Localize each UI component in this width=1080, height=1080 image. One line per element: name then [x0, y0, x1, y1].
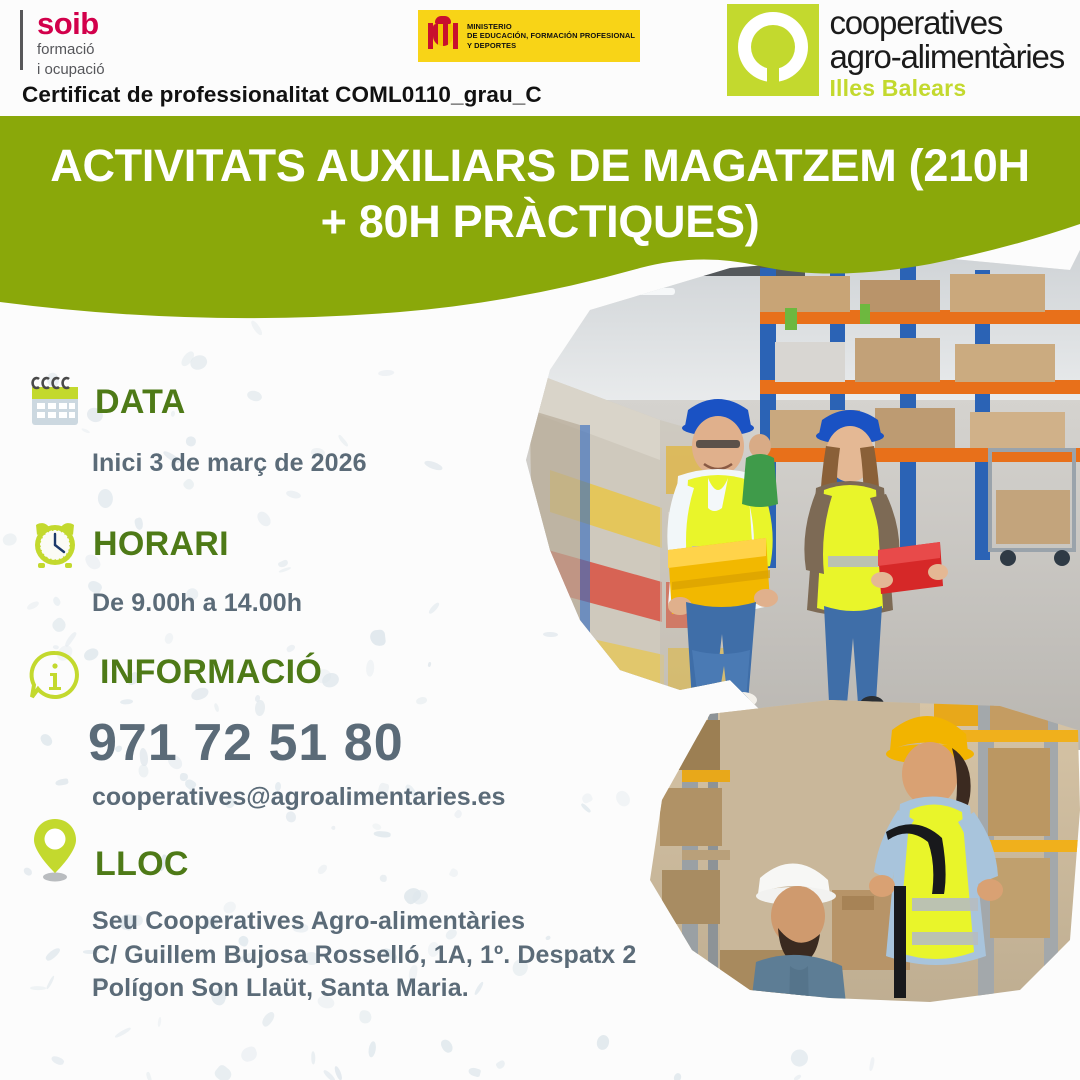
poster: ACTIVITATS AUXILIARS DE MAGATZEM (210H +… [0, 0, 1080, 1080]
calendar-icon [26, 373, 84, 431]
soib-wordmark: soib [37, 8, 105, 39]
lloc-address-line3: Polígon Son Llaüt, Santa Maria. [92, 972, 636, 1006]
horari-label: HORARI [93, 525, 229, 564]
soib-tagline-line2: i ocupació [37, 62, 105, 79]
informacio-label: INFORMACIÓ [100, 653, 322, 692]
title-banner: ACTIVITATS AUXILIARS DE MAGATZEM (210H +… [0, 116, 1080, 336]
spain-coat-of-arms-icon [428, 16, 458, 56]
soib-tagline-line1: formació [37, 42, 105, 59]
data-value: Inici 3 de març de 2026 [92, 447, 367, 481]
poster-title: ACTIVITATS AUXILIARS DE MAGATZEM (210H +… [0, 138, 1080, 250]
ministerio-line1: MINISTERIO [467, 22, 635, 32]
lloc-address: Seu Cooperatives Agro-alimentàries C/ Gu… [92, 905, 636, 1006]
email-address[interactable]: cooperatives@agroalimentaries.es [92, 783, 505, 812]
cooperatives-line2: agro-alimentàries [829, 40, 1064, 74]
soib-divider-bar [20, 10, 23, 70]
data-label: DATA [95, 383, 186, 422]
map-pin-icon [26, 815, 84, 887]
lloc-address-line1: Seu Cooperatives Agro-alimentàries [92, 905, 636, 939]
ministerio-line3: Y DEPORTES [467, 41, 635, 51]
cooperatives-line1: cooperatives [829, 6, 1064, 40]
lloc-address-line2: C/ Guillem Bujosa Rosselló, 1A, 1º. Desp… [92, 939, 636, 973]
info-bubble-icon [26, 647, 84, 705]
certificate-code-text: Certificat de professionalitat COML0110_… [22, 82, 542, 108]
ministerio-line2: DE EDUCACIÓN, FORMACIÓN PROFESIONAL [467, 31, 635, 41]
cooperatives-tree-mark-icon [727, 4, 819, 96]
horari-value: De 9.00h a 14.00h [92, 587, 302, 621]
soib-logo: soib formació i ocupació [20, 8, 105, 79]
phone-number[interactable]: 971 72 51 80 [88, 713, 404, 773]
cooperatives-line3: Illes Balears [829, 75, 1064, 103]
lloc-label: LLOC [95, 845, 189, 884]
ministerio-logo: MINISTERIO DE EDUCACIÓN, FORMACIÓN PROFE… [418, 10, 640, 62]
cooperatives-logo: cooperatives agro-alimentàries Illes Bal… [727, 4, 1064, 103]
alarm-clock-icon [26, 513, 84, 571]
warehouse-pallet-jack-photo [600, 700, 1080, 1080]
